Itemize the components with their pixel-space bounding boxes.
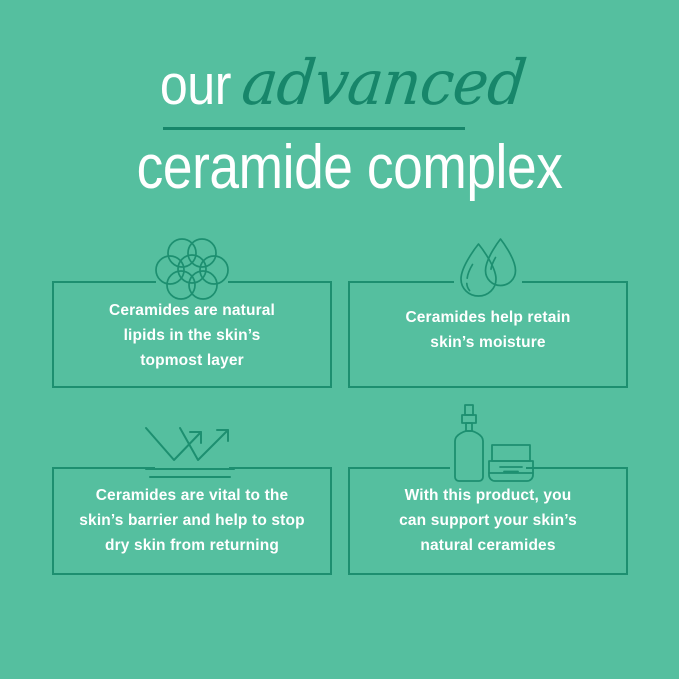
card-text-block: Ceramides are vital to the skin’s barrie… xyxy=(52,483,332,558)
headline-word-our: our xyxy=(160,57,231,114)
card-text-line: natural ceramides xyxy=(348,533,628,558)
benefit-card-support-natural-ceramides: With this product, you can support your … xyxy=(348,401,628,575)
card-text-line: can support your skin’s xyxy=(348,508,628,533)
card-text-line: dry skin from returning xyxy=(52,533,332,558)
headline-word-advanced: advanced xyxy=(239,52,528,114)
card-text-line: Ceramides help retain xyxy=(348,305,628,330)
bottle-and-jar-icon xyxy=(432,401,544,485)
headline-line-2: ceramide complex xyxy=(0,135,679,200)
card-text-line: With this product, you xyxy=(348,483,628,508)
card-text-block: With this product, you can support your … xyxy=(348,483,628,558)
card-text-block: Ceramides are natural lipids in the skin… xyxy=(52,298,332,373)
headline-underline-rule xyxy=(163,127,465,130)
water-droplets-icon xyxy=(452,235,524,301)
benefit-card-ceramides-natural-lipids: Ceramides are natural lipids in the skin… xyxy=(52,225,332,388)
card-text-line: skin’s moisture xyxy=(348,330,628,355)
molecule-cluster-icon xyxy=(154,236,230,302)
card-text-line: skin’s barrier and help to stop xyxy=(52,508,332,533)
barrier-arrows-icon xyxy=(138,415,246,485)
benefit-card-skin-barrier: Ceramides are vital to the skin’s barrie… xyxy=(52,411,332,575)
benefit-card-grid: Ceramides are natural lipids in the skin… xyxy=(0,215,679,679)
page-header: our advanced ceramide complex xyxy=(0,0,679,215)
card-text-block: Ceramides help retain skin’s moisture xyxy=(348,305,628,355)
headline-line-1: our advanced xyxy=(0,52,679,132)
ceramide-complex-infographic: our advanced ceramide complex xyxy=(0,0,679,679)
card-text-line: topmost layer xyxy=(52,348,332,373)
card-text-line: Ceramides are vital to the xyxy=(52,483,332,508)
card-text-line: lipids in the skin’s xyxy=(52,323,332,348)
page-title: ceramide complex xyxy=(137,135,563,200)
benefit-card-retain-moisture: Ceramides help retain skin’s moisture xyxy=(348,225,628,388)
